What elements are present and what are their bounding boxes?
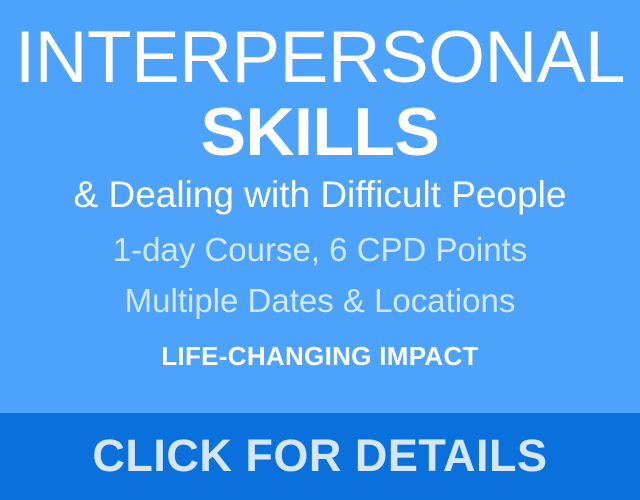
cta-button-label: CLICK FOR DETAILS bbox=[92, 433, 547, 480]
subheadline: & Dealing with Difficult People bbox=[74, 175, 567, 216]
banner-content: INTERPERSONAL SKILLS & Dealing with Diff… bbox=[0, 0, 640, 413]
headline-line-1: INTERPERSONAL bbox=[15, 22, 625, 94]
detail-line-course-info: 1-day Course, 6 CPD Points bbox=[113, 232, 528, 269]
advertisement-banner[interactable]: INTERPERSONAL SKILLS & Dealing with Diff… bbox=[0, 0, 640, 500]
headline-line-2: SKILLS bbox=[201, 98, 440, 166]
tagline: LIFE-CHANGING IMPACT bbox=[161, 342, 479, 371]
cta-button[interactable]: CLICK FOR DETAILS bbox=[0, 413, 640, 500]
detail-line-dates-locations: Multiple Dates & Locations bbox=[125, 283, 516, 320]
